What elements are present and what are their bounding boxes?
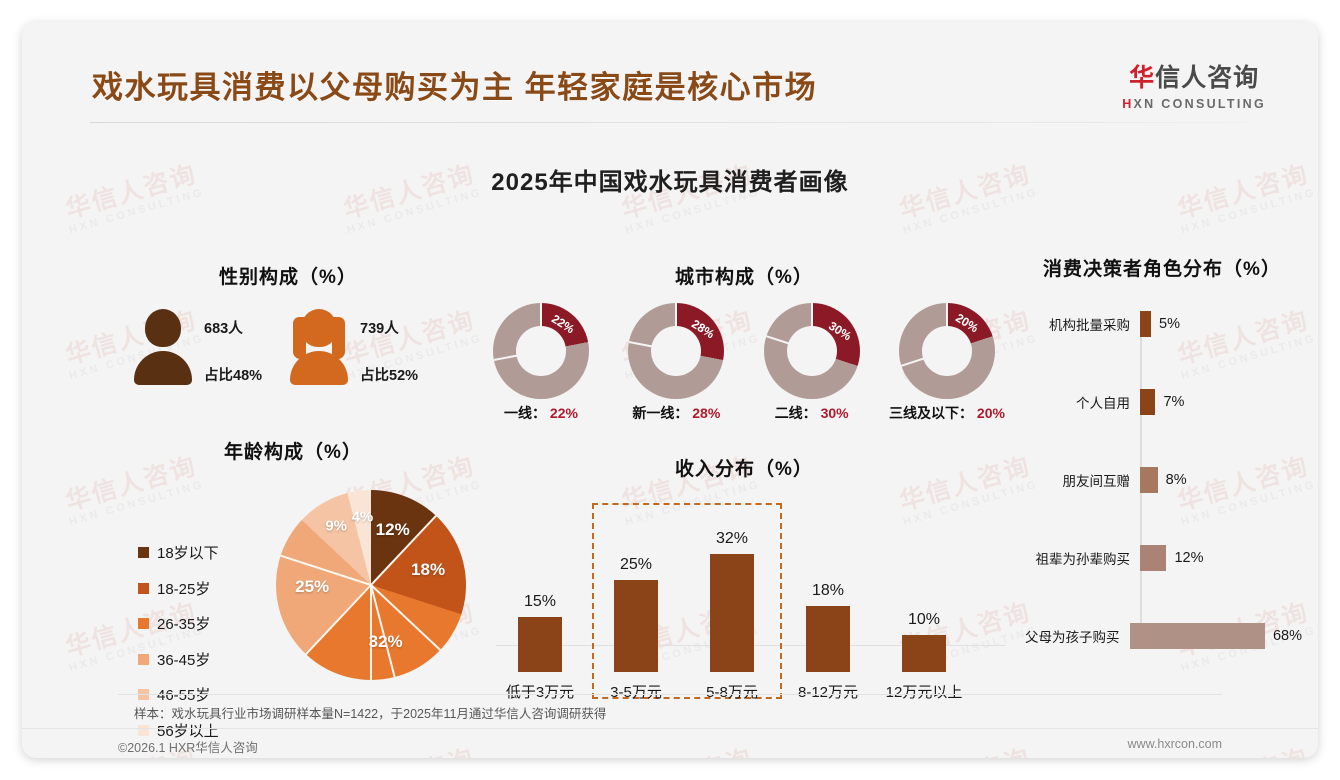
age-chart-body: 18岁以下18-25岁26-35岁36-45岁46-55岁56岁以上 12%18… [118, 486, 468, 686]
age-panel-title: 年龄构成（%） [118, 437, 468, 464]
city-donut-row: 22%一线： 22%28%新一线： 28%30%二线： 30%20%三线及以下：… [474, 303, 1014, 423]
city-donut-item: 22%一线： 22% [480, 303, 602, 423]
age-legend-item: 36-45岁 [138, 649, 219, 670]
gender-composition-panel: 性别构成（%） 683人占比48%739人占比52% [118, 262, 458, 385]
income-bar [614, 580, 658, 672]
donut-hole [651, 326, 701, 376]
role-bar-label: 祖辈为孙辈购买 [1022, 548, 1136, 568]
income-bar [518, 617, 562, 672]
logo: 华信人咨询 HXN CONSULTING [1122, 58, 1266, 111]
role-bar-label: 父母为孩子购买 [1022, 626, 1126, 646]
infographic-page: 华信人咨询HXN CONSULTING华信人咨询HXN CONSULTING华信… [22, 22, 1318, 758]
role-bar-label: 机构批量采购 [1022, 314, 1136, 334]
income-bar-value: 25% [588, 556, 684, 574]
female-silhouette-icon [290, 309, 348, 385]
page-title: 戏水玩具消费以父母购买为主 年轻家庭是核心市场 [92, 62, 817, 107]
income-bar-category: 3-5万元 [588, 681, 684, 702]
gender-share: 占比52% [360, 364, 418, 385]
donut-caption-name: 二线： [775, 405, 817, 421]
donut-caption-value: 30% [817, 405, 849, 421]
role-bar-value: 7% [1163, 394, 1184, 410]
donut-hole [787, 326, 837, 376]
logo-hua-glyph: 华 [1129, 64, 1155, 92]
income-bar [902, 635, 946, 672]
role-bar-label: 个人自用 [1022, 392, 1136, 412]
gender-share: 占比48% [204, 364, 262, 385]
donut-chart: 22% [493, 303, 589, 399]
header-divider [90, 122, 1250, 123]
city-donut-item: 30%二线： 30% [751, 303, 873, 423]
income-bar-column: 15%低于3万元 [492, 554, 588, 702]
gender-panel-title: 性别构成（%） [118, 262, 458, 289]
donut-caption-value: 20% [973, 405, 1005, 421]
legend-swatch-icon [138, 547, 149, 558]
donut-caption: 新一线： 28% [615, 403, 737, 423]
gender-text: 739人占比52% [360, 309, 418, 385]
role-panel-title: 消费决策者角色分布（%） [1022, 254, 1302, 281]
city-donut-item: 28%新一线： 28% [615, 303, 737, 423]
donut-chart: 30% [764, 303, 860, 399]
donut-caption-name: 新一线： [632, 405, 688, 421]
logo-en-rest: XN CONSULTING [1134, 97, 1266, 111]
income-bar-value: 18% [780, 582, 876, 600]
legend-label: 26-35岁 [157, 613, 210, 634]
role-bar-value: 12% [1174, 550, 1203, 566]
donut-hole [922, 326, 972, 376]
income-bar-category: 低于3万元 [492, 681, 588, 702]
city-donut-item: 20%三线及以下： 20% [886, 303, 1008, 423]
age-composition-panel: 年龄构成（%） 18岁以下18-25岁26-35岁36-45岁46-55岁56岁… [118, 437, 468, 686]
pie-slice-label: 9% [325, 518, 347, 535]
gender-count: 683人 [204, 317, 262, 338]
footer-divider [22, 728, 1318, 729]
pie-slice-label: 12% [376, 520, 410, 540]
decision-role-panel: 消费决策者角色分布（%） 机构批量采购5%个人自用7%朋友间互赠8%祖辈为孙辈购… [1022, 254, 1302, 671]
note-divider [118, 694, 1222, 695]
role-bar-value: 5% [1159, 316, 1180, 332]
role-bar-label: 朋友间互赠 [1022, 470, 1136, 490]
income-panel-title: 收入分布（%） [474, 454, 1014, 481]
role-bar-row: 个人自用7% [1022, 389, 1302, 415]
income-bar [806, 606, 850, 672]
chart-subtitle: 2025年中国戏水玩具消费者画像 [22, 162, 1318, 197]
gender-figures: 683人占比48%739人占比52% [118, 309, 458, 385]
copyright-text: ©2026.1 HXR华信人咨询 [118, 737, 258, 756]
role-bar-value: 68% [1273, 628, 1302, 644]
pie-slice-divider [370, 585, 396, 678]
city-panel-title: 城市构成（%） [474, 262, 1014, 289]
role-bar-value: 8% [1166, 472, 1187, 488]
legend-label: 18-25岁 [157, 578, 210, 599]
donut-caption-value: 22% [546, 405, 578, 421]
role-bar [1140, 311, 1151, 337]
income-bar-value: 15% [492, 593, 588, 611]
age-pie-chart: 12%18%32%25%9%4% [276, 490, 466, 680]
role-bar [1140, 389, 1155, 415]
pie-slice-label: 18% [411, 560, 445, 580]
age-legend-item: 26-35岁 [138, 613, 219, 634]
income-bar-category: 8-12万元 [780, 681, 876, 702]
role-bar [1130, 623, 1265, 649]
legend-label: 18岁以下 [157, 542, 219, 563]
age-legend: 18岁以下18-25岁26-35岁36-45岁46-55岁56岁以上 [138, 542, 219, 755]
legend-swatch-icon [138, 583, 149, 594]
income-bar-spacer: 25% [588, 554, 684, 580]
role-bar-row: 祖辈为孙辈购买12% [1022, 545, 1302, 571]
role-bar-row: 朋友间互赠8% [1022, 467, 1302, 493]
donut-caption: 二线： 30% [751, 403, 873, 423]
pie-slice-label: 25% [295, 577, 329, 597]
city-composition-panel: 城市构成（%） 22%一线： 22%28%新一线： 28%30%二线： 30%2… [474, 262, 1014, 423]
income-bar-value: 32% [684, 530, 780, 548]
donut-caption-name: 一线： [504, 405, 546, 421]
role-bar-row: 父母为孩子购买68% [1022, 623, 1302, 649]
logo-cn-rest: 信人咨询 [1155, 64, 1259, 92]
legend-swatch-icon [138, 725, 149, 736]
gender-text: 683人占比48% [204, 309, 262, 385]
header: 戏水玩具消费以父母购买为主 年轻家庭是核心市场 华信人咨询 HXN CONSUL… [22, 22, 1318, 128]
donut-caption-value: 28% [688, 405, 720, 421]
website-text: www.hxrcon.com [1128, 737, 1222, 751]
gender-item: 683人占比48% [134, 309, 290, 385]
income-bar-spacer: 18% [780, 554, 876, 606]
watermark: 华信人咨询HXN CONSULTING [614, 738, 761, 758]
income-bar-spacer: 15% [492, 554, 588, 617]
income-bar-value: 10% [876, 611, 972, 629]
logo-en-accent: H [1122, 97, 1133, 111]
income-bar [710, 554, 754, 672]
donut-hole [516, 326, 566, 376]
role-chart-body: 机构批量采购5%个人自用7%朋友间互赠8%祖辈为孙辈购买12%父母为孩子购买68… [1022, 311, 1302, 671]
donut-chart: 20% [899, 303, 995, 399]
age-legend-item: 18-25岁 [138, 578, 219, 599]
income-chart-body: 15%低于3万元25%3-5万元32%5-8万元18%8-12万元10%12万元… [474, 497, 1014, 702]
income-bar-column: 18%8-12万元 [780, 554, 876, 702]
watermark: 华信人咨询HXN CONSULTING [336, 738, 483, 758]
sample-note: 样本：戏水玩具行业市场调研样本量N=1422，于2025年11月通过华信人咨询调… [134, 703, 606, 722]
pie-slice-label: 32% [369, 632, 403, 652]
role-bar [1140, 545, 1166, 571]
income-bar-column: 10%12万元以上 [876, 554, 972, 702]
legend-swatch-icon [138, 654, 149, 665]
legend-swatch-icon [138, 618, 149, 629]
income-bar-category: 12万元以上 [876, 681, 972, 702]
income-distribution-panel: 收入分布（%） 15%低于3万元25%3-5万元32%5-8万元18%8-12万… [474, 454, 1014, 702]
donut-caption-name: 三线及以下： [889, 405, 973, 421]
logo-english: HXN CONSULTING [1122, 97, 1266, 111]
gender-count: 739人 [360, 317, 418, 338]
role-bar [1140, 467, 1158, 493]
donut-chart: 28% [628, 303, 724, 399]
role-bar-row: 机构批量采购5% [1022, 311, 1302, 337]
donut-caption: 三线及以下： 20% [886, 403, 1008, 423]
donut-caption: 一线： 22% [480, 403, 602, 423]
age-legend-item: 18岁以下 [138, 542, 219, 563]
income-bar-spacer: 10% [876, 554, 972, 635]
gender-item: 739人占比52% [290, 309, 446, 385]
logo-chinese: 华信人咨询 [1122, 58, 1266, 94]
income-bar-column: 25%3-5万元 [588, 554, 684, 702]
male-silhouette-icon [134, 309, 192, 385]
watermark: 华信人咨询HXN CONSULTING [892, 738, 1039, 758]
legend-label: 36-45岁 [157, 649, 210, 670]
income-bar-category: 5-8万元 [684, 681, 780, 702]
income-bar-column: 32%5-8万元 [684, 554, 780, 702]
pie-slice-label: 4% [352, 509, 374, 526]
